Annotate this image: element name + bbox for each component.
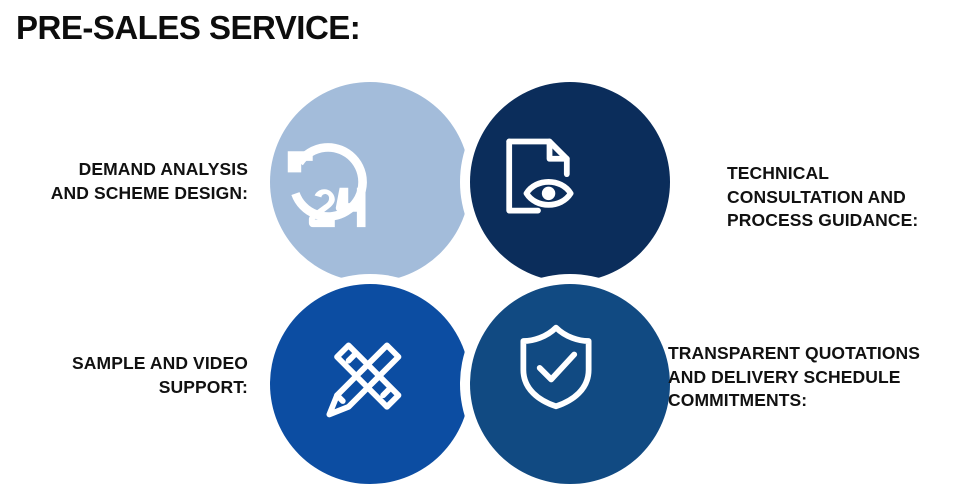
label-line: COMMITMENTS: (668, 389, 960, 413)
label-demand-analysis: DEMAND ANALYSIS AND SCHEME DESIGN: (0, 158, 248, 205)
24-hours-rotate-icon (282, 134, 378, 230)
label-line: DEMAND ANALYSIS (0, 158, 248, 182)
label-technical-consultation: TECHNICAL CONSULTATION AND PROCESS GUIDA… (727, 162, 957, 233)
label-sample-video-support: SAMPLE AND VIDEO SUPPORT: (0, 352, 248, 399)
label-line: TRANSPARENT QUOTATIONS (668, 342, 960, 366)
label-line: AND SCHEME DESIGN: (0, 182, 248, 206)
label-line: AND DELIVERY SCHEDULE (668, 366, 960, 390)
label-line: TECHNICAL (727, 162, 957, 186)
page-title: PRE-SALES SERVICE: (16, 8, 360, 48)
pre-sales-service-infographic: PRE-SALES SERVICE: (0, 0, 960, 498)
shield-check-icon (508, 318, 604, 414)
pen-ruler-icon (314, 330, 410, 426)
label-line: SUPPORT: (0, 376, 248, 400)
document-eye-icon (490, 130, 586, 226)
label-line: SAMPLE AND VIDEO (0, 352, 248, 376)
circle-cluster (268, 78, 672, 490)
label-line: CONSULTATION AND (727, 186, 957, 210)
label-transparent-quotations: TRANSPARENT QUOTATIONS AND DELIVERY SCHE… (668, 342, 960, 413)
label-line: PROCESS GUIDANCE: (727, 209, 957, 233)
